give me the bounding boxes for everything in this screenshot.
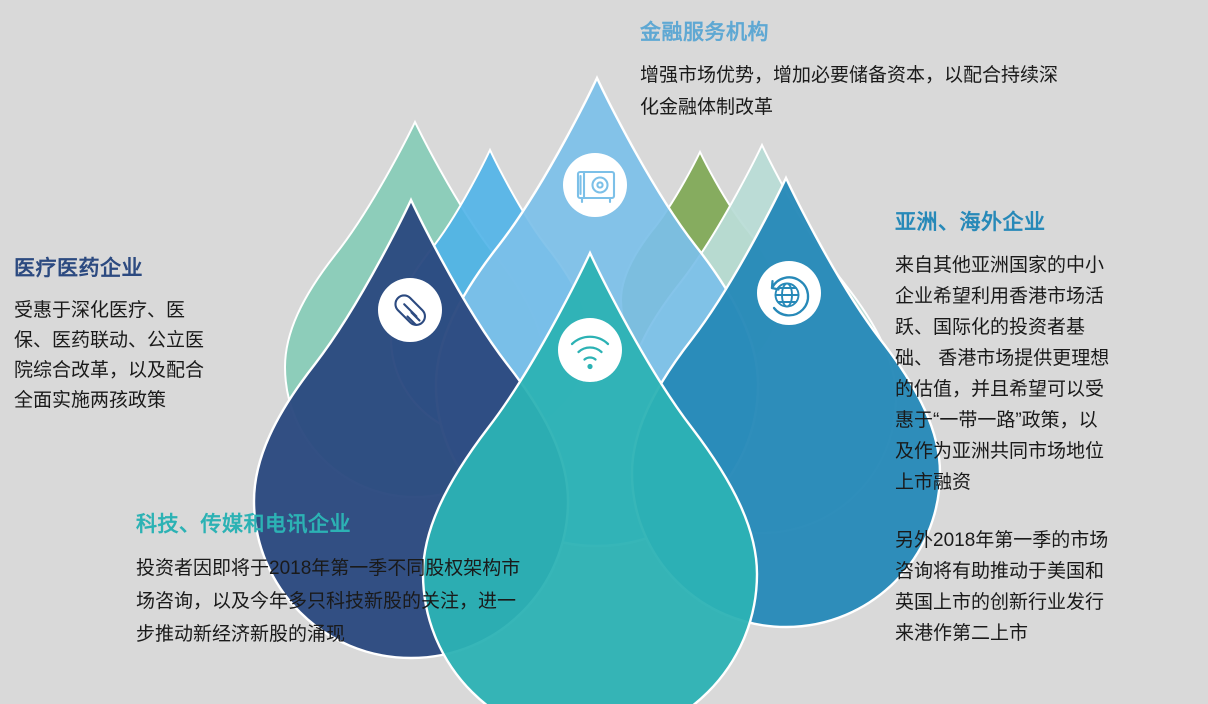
tmt-body: 投资者因即将于2018年第一季不同股权架构市 场咨询，以及今年多只科技新股的关注… [136, 552, 656, 651]
healthcare-body: 受惠于深化医疗、医 保、医药联动、公立医 院综合改革，以及配合 全面实施两孩政策 [14, 296, 264, 416]
asia-overseas-body-secondary: 另外2018年第一季的市场 咨询将有助推动于美国和 英国上市的创新行业发行 来港… [895, 525, 1195, 649]
globe-refresh-icon [757, 261, 821, 325]
financial-services-body: 增强市场优势，增加必要储备资本，以配合持续深 化金融体制改革 [640, 60, 1070, 124]
pill-icon [378, 278, 442, 342]
tmt-heading: 科技、传媒和电讯企业 [136, 508, 656, 538]
section-tmt-text: 科技、传媒和电讯企业 投资者因即将于2018年第一季不同股权架构市 场咨询，以及… [136, 508, 656, 651]
healthcare-heading: 医疗医药企业 [14, 252, 264, 282]
safe-vault-icon [563, 153, 627, 217]
wifi-icon [558, 318, 622, 382]
section-healthcare-text: 医疗医药企业 受惠于深化医疗、医 保、医药联动、公立医 院综合改革，以及配合 全… [14, 252, 264, 416]
financial-services-heading: 金融服务机构 [640, 16, 1070, 46]
asia-overseas-body: 来自其他亚洲国家的中小 企业希望利用香港市场活 跃、国际化的投资者基 础、 香港… [895, 250, 1195, 498]
infographic-canvas: 医疗医药企业 受惠于深化医疗、医 保、医药联动、公立医 院综合改革，以及配合 全… [0, 0, 1208, 704]
asia-overseas-heading: 亚洲、海外企业 [895, 206, 1195, 236]
section-asia-overseas-text: 亚洲、海外企业 来自其他亚洲国家的中小 企业希望利用香港市场活 跃、国际化的投资… [895, 206, 1195, 498]
section-financial-services-text: 金融服务机构 增强市场优势，增加必要储备资本，以配合持续深 化金融体制改革 [640, 16, 1070, 124]
section-asia-overseas-text-secondary: 另外2018年第一季的市场 咨询将有助推动于美国和 英国上市的创新行业发行 来港… [895, 525, 1195, 649]
